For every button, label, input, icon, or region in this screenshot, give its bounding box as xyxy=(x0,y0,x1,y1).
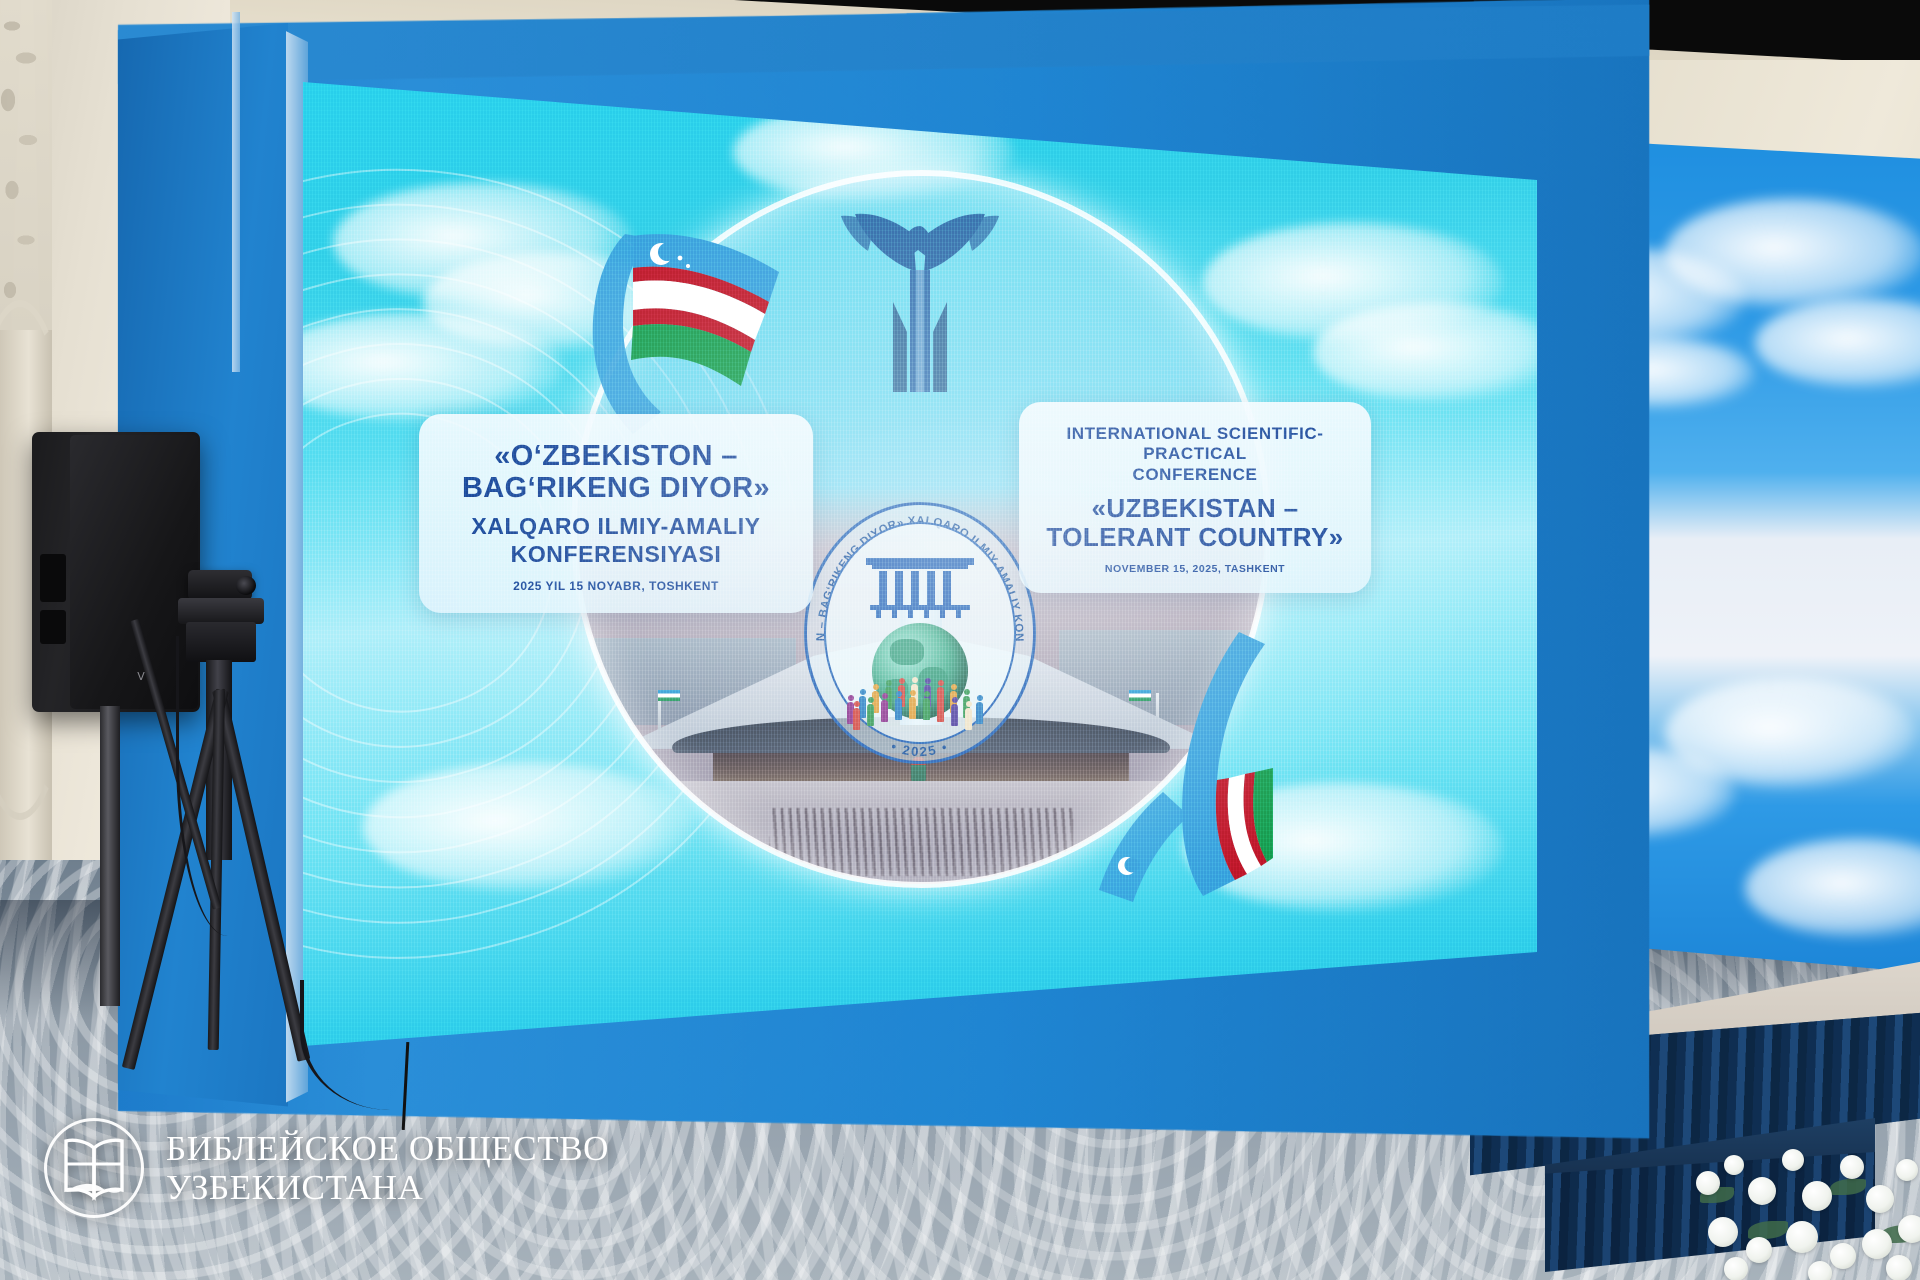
watermark-line2: УЗБЕКИСТАНА xyxy=(166,1168,609,1207)
open-book-circle-icon xyxy=(44,1118,144,1218)
conference-hall-photo: «O‘ZBEKISTON – BAG‘RIKENG DIYOR» XALQARO… xyxy=(0,0,1920,1280)
tripod-head xyxy=(178,598,264,624)
english-title-panel: INTERNATIONAL SCIENTIFIC-PRACTICAL CONFE… xyxy=(1019,402,1371,593)
uzbek-subtitle-line2: KONFERENSIYASI xyxy=(437,541,795,569)
camera-lens-icon xyxy=(236,576,256,595)
speaker-handle-port xyxy=(40,610,66,644)
uzbek-flag-ribbon-icon xyxy=(1003,622,1273,902)
humo-bird-monument-icon xyxy=(805,182,1035,392)
watermark: БИБЛЕЙСКОЕ ОБЩЕСТВО УЗБЕКИСТАНА xyxy=(44,1118,609,1218)
english-kicker-line2: CONFERENCE xyxy=(1035,465,1355,485)
speaker-handle-port xyxy=(40,554,66,602)
white-flower-arrangement xyxy=(1690,1125,1920,1280)
led-wall-seam xyxy=(232,12,240,372)
english-date-line: NOVEMBER 15, 2025, TASHKENT xyxy=(1035,563,1355,575)
uzbek-title-panel: «O‘ZBEKISTON – BAG‘RIKENG DIYOR» XALQARO… xyxy=(419,414,813,613)
temple-icon xyxy=(866,554,974,618)
uzbek-date-line: 2025 YIL 15 NOYABR, TOSHKENT xyxy=(437,579,795,593)
led-screen: «O‘ZBEKISTON – BAG‘RIKENG DIYOR» XALQARO… xyxy=(303,62,1537,1062)
speaker-stand xyxy=(100,706,120,1006)
english-title-line2: TOLERANT COUNTRY» xyxy=(1035,523,1355,552)
uzbek-title-line1: «O‘ZBEKISTON – xyxy=(437,440,795,472)
watermark-line1: БИБЛЕЙСКОЕ ОБЩЕСТВО xyxy=(166,1129,609,1168)
uzbek-title-line2: BAG‘RIKENG DIYOR» xyxy=(437,472,795,504)
cloud-icon xyxy=(1313,302,1537,402)
people-ring-icon xyxy=(845,680,995,730)
english-kicker-line1: INTERNATIONAL SCIENTIFIC-PRACTICAL xyxy=(1035,424,1355,465)
pa-speaker: Ⅴ xyxy=(32,432,200,712)
conference-emblem: «O‘ZBEKISTON – BAG‘RIKENG DIYOR» XALQARO… xyxy=(804,502,1036,764)
plaster-ornament-icon xyxy=(0,0,52,330)
english-title-line1: «UZBEKISTAN – xyxy=(1035,494,1355,523)
uzbek-subtitle-line1: XALQARO ILMIY-AMALIY xyxy=(437,513,795,541)
